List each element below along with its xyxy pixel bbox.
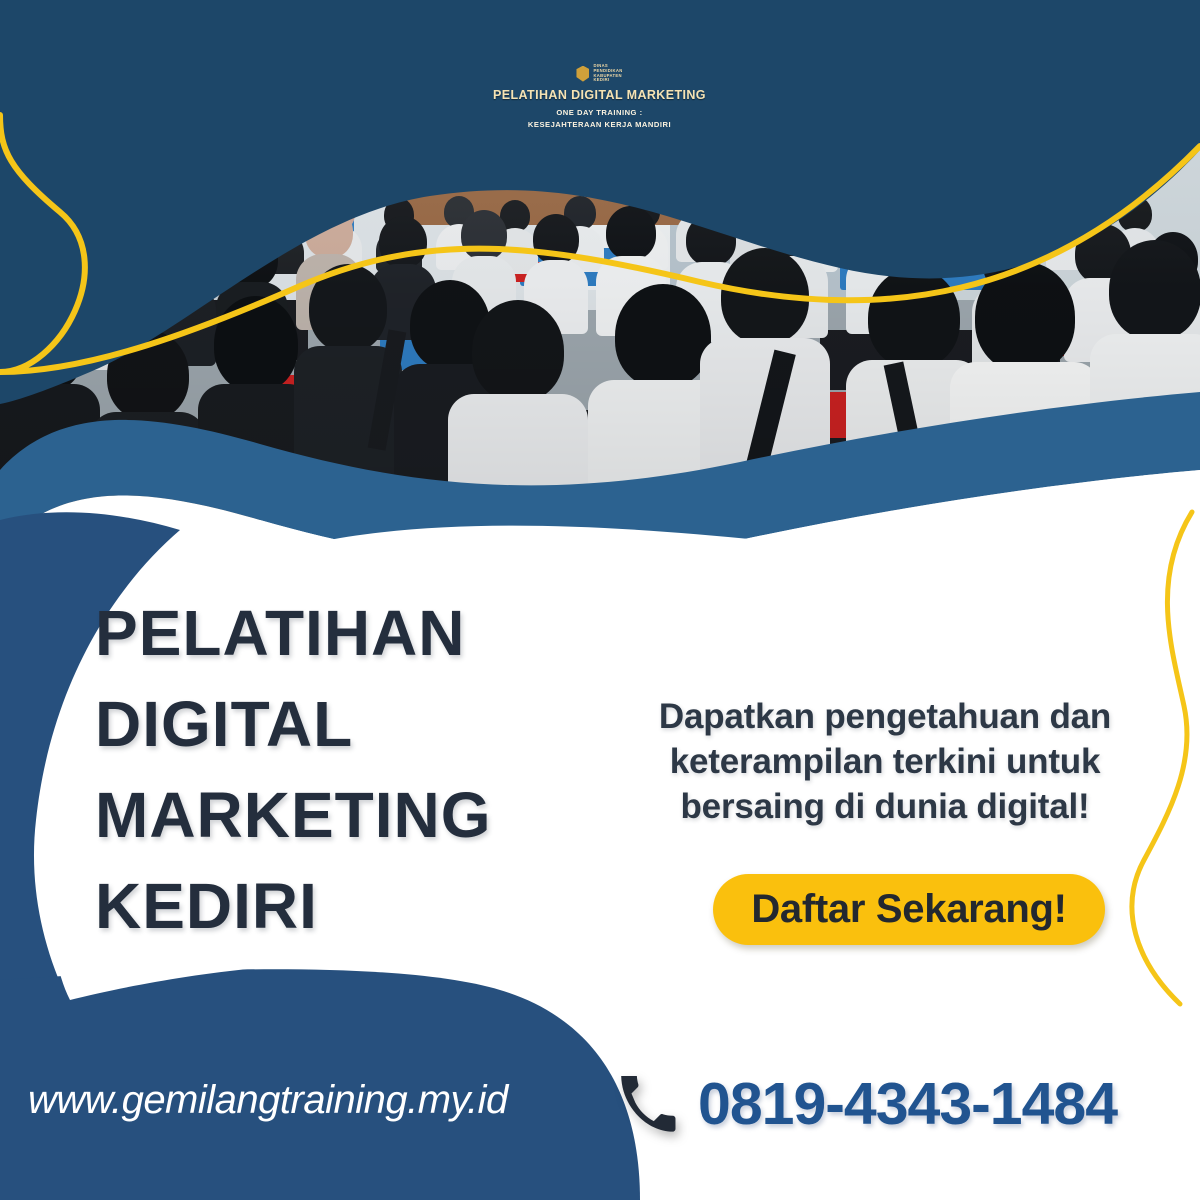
right-yellow-curve (1132, 512, 1192, 1004)
headline-line-4: KEDIRI (95, 861, 615, 952)
banner-org-text: DINAS PENDIDIKAN KABUPATEN KEDIRI (593, 64, 622, 83)
description-line-1: Dapatkan pengetahuan dan (630, 694, 1140, 739)
banner-logo: DINAS PENDIDIKAN KABUPATEN KEDIRI (576, 64, 622, 83)
contact-phone[interactable]: 0819-4343-1484 (620, 1070, 1117, 1138)
headline-line-1: PELATIHAN (95, 588, 615, 679)
banner-subtitle-1: ONE DAY TRAINING : (556, 108, 642, 117)
register-button[interactable]: Daftar Sekarang! (713, 874, 1105, 945)
banner-subtitle-2: KESEJAHTERAAN KERJA MANDIRI (528, 120, 671, 129)
event-photo: DINAS PENDIDIKAN KABUPATEN KEDIRI PELATI… (0, 0, 1200, 520)
headline-line-2: DIGITAL (95, 679, 615, 770)
org-line: KEDIRI (593, 78, 622, 83)
phone-handset-icon (620, 1076, 676, 1132)
description-line-3: bersaing di dunia digital! (630, 784, 1140, 829)
description-text: Dapatkan pengetahuan dan keterampilan te… (630, 694, 1140, 829)
poster-canvas: DINAS PENDIDIKAN KABUPATEN KEDIRI PELATI… (0, 0, 1200, 1200)
headline-line-3: MARKETING (95, 770, 615, 861)
banner-title: PELATIHAN DIGITAL MARKETING (493, 88, 706, 102)
page-title: PELATIHAN DIGITAL MARKETING KEDIRI (95, 588, 615, 952)
description-line-2: keterampilan terkini untuk (630, 739, 1140, 784)
website-url[interactable]: www.gemilangtraining.my.id (28, 1078, 508, 1123)
phone-number: 0819-4343-1484 (698, 1070, 1117, 1138)
crest-icon (576, 66, 589, 82)
